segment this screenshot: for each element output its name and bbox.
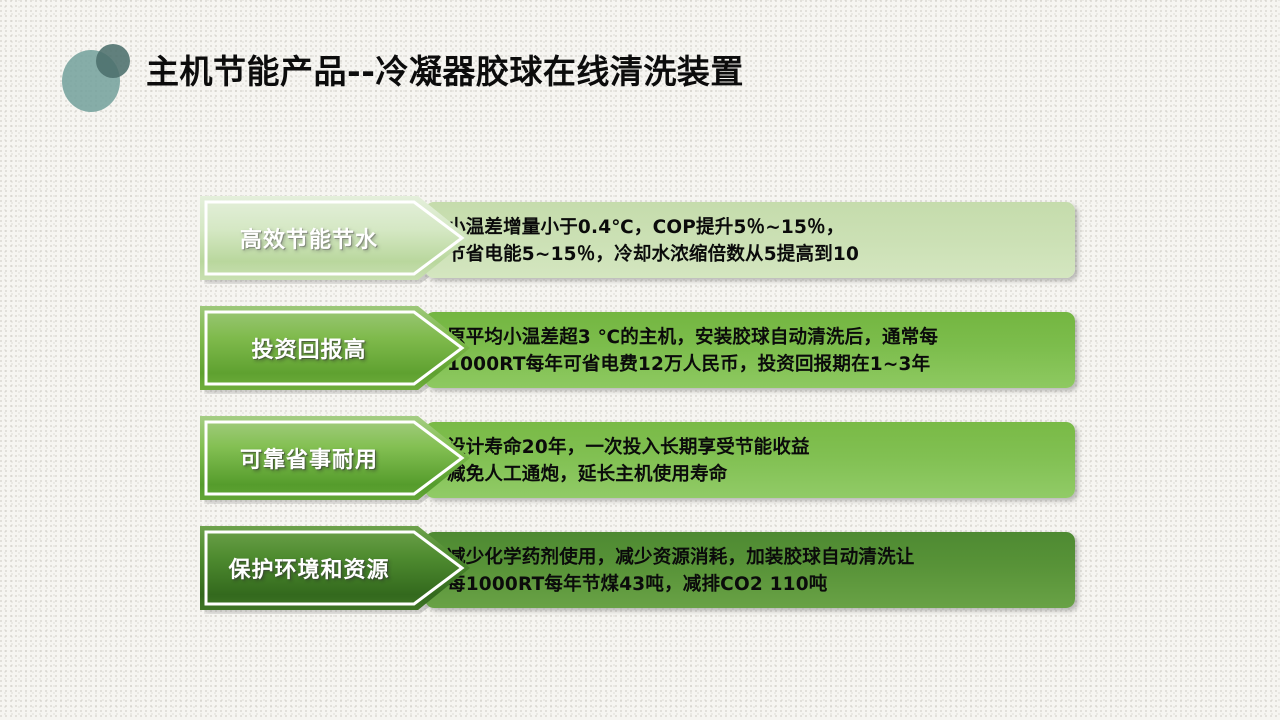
body-line: 减免人工通炮，延长主机使用寿命 (447, 461, 1061, 488)
feature-body-panel: 小温差增量小于0.4℃，COP提升5％~15％， 节省电能5~15％，冷却水浓缩… (425, 202, 1075, 278)
body-line: 减少化学药剂使用，减少资源消耗，加装胶球自动清洗让 (447, 544, 1061, 571)
body-line: 原平均小温差超3 ℃的主机，安装胶球自动清洗后，通常每 (447, 324, 1061, 351)
feature-row: 设计寿命20年，一次投入长期享受节能收益 减免人工通炮，延长主机使用寿命 可靠省… (0, 416, 1280, 500)
feature-label-chevron[interactable]: 投资回报高 (200, 306, 470, 390)
feature-body-text: 原平均小温差超3 ℃的主机，安装胶球自动清洗后，通常每 1000RT每年可省电费… (447, 324, 1061, 378)
feature-label-text: 投资回报高 (200, 306, 418, 390)
feature-body-text: 设计寿命20年，一次投入长期享受节能收益 减免人工通炮，延长主机使用寿命 (447, 434, 1061, 488)
feature-body-panel: 设计寿命20年，一次投入长期享受节能收益 减免人工通炮，延长主机使用寿命 (425, 422, 1075, 498)
body-line: 每1000RT每年节煤43吨，减排CO2 110吨 (447, 571, 1061, 598)
feature-label-chevron[interactable]: 保护环境和资源 (200, 526, 470, 610)
slide-canvas: 主机节能产品--冷凝器胶球在线清洗装置 小温差增量小于0.4℃，COP提升5％~… (0, 0, 1280, 720)
decorative-circles-icon (62, 42, 140, 112)
circle-small-icon (96, 44, 130, 78)
feature-row: 原平均小温差超3 ℃的主机，安装胶球自动清洗后，通常每 1000RT每年可省电费… (0, 306, 1280, 390)
feature-label-chevron[interactable]: 可靠省事耐用 (200, 416, 470, 500)
body-line: 1000RT每年可省电费12万人民币，投资回报期在1~3年 (447, 351, 1061, 378)
feature-label-chevron[interactable]: 高效节能节水 (200, 196, 470, 280)
feature-label-text: 可靠省事耐用 (200, 416, 418, 500)
feature-body-panel: 减少化学药剂使用，减少资源消耗，加装胶球自动清洗让 每1000RT每年节煤43吨… (425, 532, 1075, 608)
body-line: 小温差增量小于0.4℃，COP提升5％~15％， (447, 214, 1061, 241)
feature-body-panel: 原平均小温差超3 ℃的主机，安装胶球自动清洗后，通常每 1000RT每年可省电费… (425, 312, 1075, 388)
page-title: 主机节能产品--冷凝器胶球在线清洗装置 (146, 50, 744, 94)
feature-body-text: 小温差增量小于0.4℃，COP提升5％~15％， 节省电能5~15％，冷却水浓缩… (447, 214, 1061, 268)
body-line: 设计寿命20年，一次投入长期享受节能收益 (447, 434, 1061, 461)
feature-body-text: 减少化学药剂使用，减少资源消耗，加装胶球自动清洗让 每1000RT每年节煤43吨… (447, 544, 1061, 598)
feature-row: 减少化学药剂使用，减少资源消耗，加装胶球自动清洗让 每1000RT每年节煤43吨… (0, 526, 1280, 610)
slide-title-block: 主机节能产品--冷凝器胶球在线清洗装置 (0, 36, 1280, 116)
body-line: 节省电能5~15％，冷却水浓缩倍数从5提高到10 (447, 241, 1061, 268)
feature-label-text: 高效节能节水 (200, 196, 418, 280)
feature-row: 小温差增量小于0.4℃，COP提升5％~15％， 节省电能5~15％，冷却水浓缩… (0, 196, 1280, 280)
feature-label-text: 保护环境和资源 (200, 526, 418, 610)
